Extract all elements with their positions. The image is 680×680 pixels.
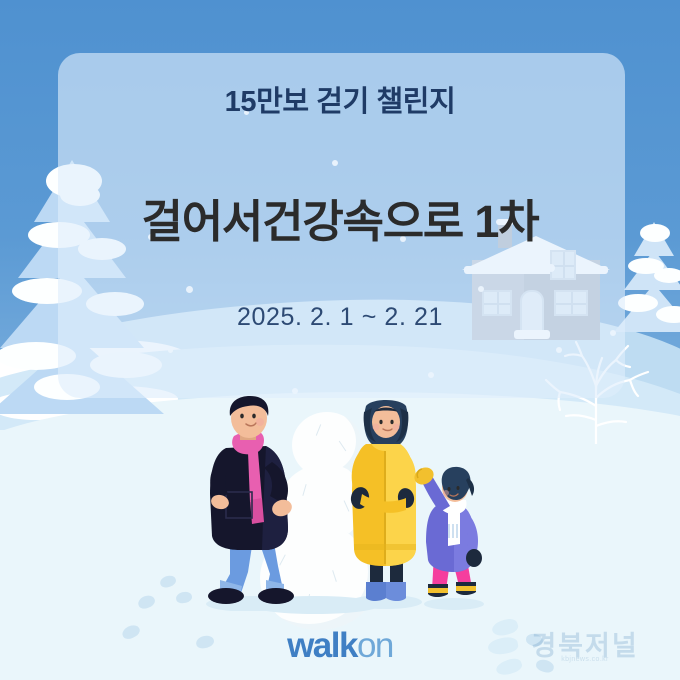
poster-title: 걸어서건강속으로 1차	[0, 185, 680, 250]
figure-child	[410, 462, 494, 610]
watermark-url: kbjnews.co.kr	[510, 656, 660, 663]
logo-on-text: on	[357, 626, 393, 665]
watermark: 경북저널 kbjnews.co.kr	[492, 618, 662, 676]
winter-walking-challenge-poster: 15만보 걷기 챌린지 걸어서건강속으로 1차 2025. 2. 1 ~ 2. …	[0, 0, 680, 680]
figure-man	[196, 396, 306, 611]
poster-subtitle: 15만보 걷기 챌린지	[0, 78, 680, 120]
poster-date-range: 2025. 2. 1 ~ 2. 21	[0, 303, 680, 332]
logo-walk-text: walk	[287, 626, 357, 665]
